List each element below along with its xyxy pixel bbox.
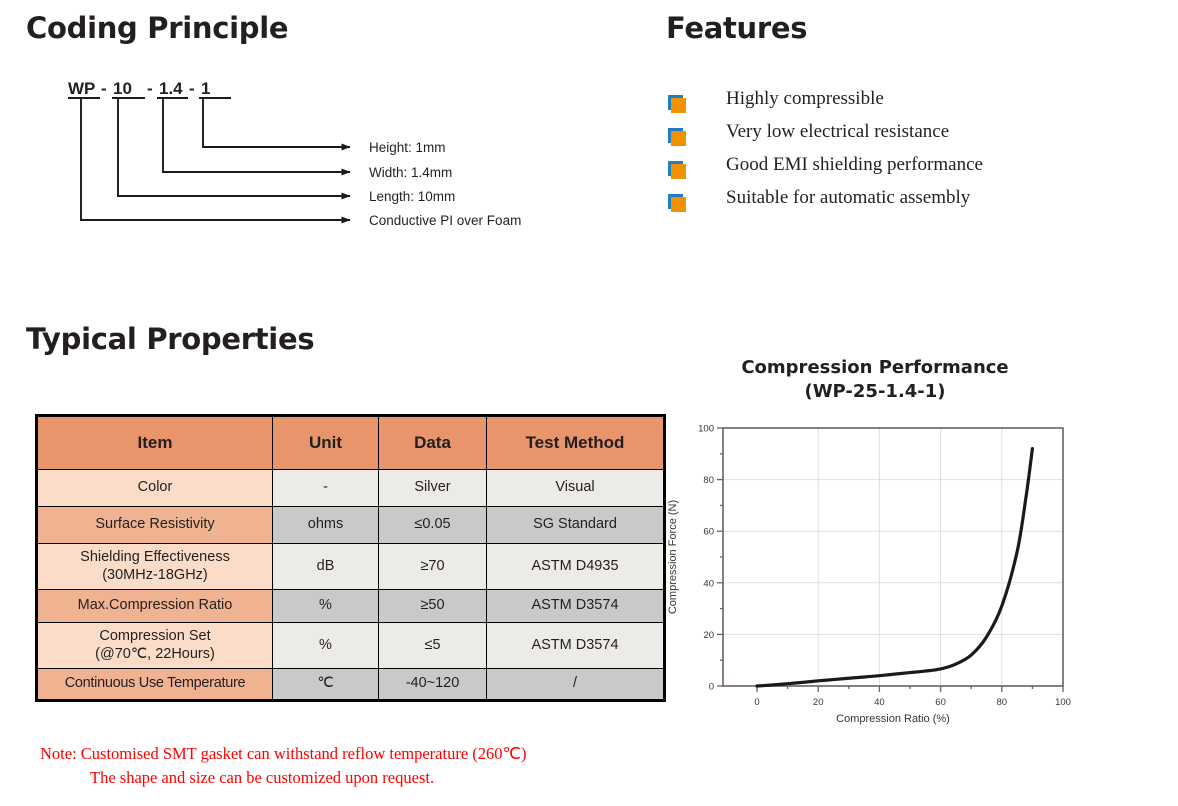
table-row: Max.Compression Ratio % ≥50 ASTM D3574	[38, 590, 664, 623]
cell-data: ≤5	[379, 623, 487, 669]
cell-item: Continuous Use Temperature	[38, 669, 273, 700]
table-note: Note: Customised SMT gasket can withstan…	[40, 742, 660, 790]
list-item: Suitable for automatic assembly	[668, 187, 1108, 220]
cell-unit: -	[273, 470, 379, 507]
square-bullet-icon	[668, 128, 690, 148]
chart-title: Compression Performance (WP-25-1.4-1)	[660, 356, 1090, 405]
page-title-features: Features	[666, 14, 807, 43]
x-tick-label: 60	[935, 697, 946, 708]
chart-title-main: Compression Performance	[741, 357, 1008, 378]
callout-label-material: Conductive PI over Foam	[369, 213, 521, 228]
y-tick-label: 40	[703, 578, 714, 589]
x-tick-label: 80	[997, 697, 1008, 708]
feature-label: Very low electrical resistance	[726, 121, 949, 143]
list-item: Very low electrical resistance	[668, 121, 1108, 154]
note-line-2: The shape and size can be customized upo…	[40, 766, 660, 790]
column-header-unit: Unit	[273, 417, 379, 470]
cell-unit: %	[273, 623, 379, 669]
cell-item: Max.Compression Ratio	[38, 590, 273, 623]
cell-test-method: ASTM D4935	[487, 544, 664, 590]
cell-test-method: /	[487, 669, 664, 700]
column-header-data: Data	[379, 417, 487, 470]
leader-lines	[0, 0, 660, 260]
cell-data: -40~120	[379, 669, 487, 700]
y-tick-label: 20	[703, 630, 714, 641]
features-list: Highly compressible Very low electrical …	[668, 88, 1108, 220]
coding-principle-diagram: WP - 10 - 1.4 - 1 Height: 1mm Width: 1.4…	[0, 0, 660, 260]
square-bullet-icon	[668, 194, 690, 214]
cell-data: ≥50	[379, 590, 487, 623]
x-tick-label: 0	[754, 697, 759, 708]
list-item: Highly compressible	[668, 88, 1108, 121]
chart-title-sub: (WP-25-1.4-1)	[804, 381, 945, 402]
cell-unit: %	[273, 590, 379, 623]
cell-item: Color	[38, 470, 273, 507]
list-item: Good EMI shielding performance	[668, 154, 1108, 187]
cell-data: Silver	[379, 470, 487, 507]
x-tick-label: 100	[1055, 697, 1071, 708]
table-row: Compression Set(@70℃, 22Hours) % ≤5 ASTM…	[38, 623, 664, 669]
compression-performance-chart: Compression Performance (WP-25-1.4-1) 02…	[660, 352, 1090, 732]
column-header-test-method: Test Method	[487, 417, 664, 470]
plot-background	[723, 428, 1063, 686]
y-tick-label: 100	[698, 424, 714, 435]
cell-item: Compression Set(@70℃, 22Hours)	[38, 623, 273, 669]
cell-test-method: SG Standard	[487, 507, 664, 544]
callout-label-height: Height: 1mm	[369, 140, 446, 155]
table-row: Shielding Effectiveness(30MHz-18GHz) dB …	[38, 544, 664, 590]
y-tick-label: 80	[703, 475, 714, 486]
note-line-1: Note: Customised SMT gasket can withstan…	[40, 744, 527, 763]
x-axis-title: Compression Ratio (%)	[836, 713, 950, 725]
cell-item: Shielding Effectiveness(30MHz-18GHz)	[38, 544, 273, 590]
chart-plot: 020406080100 020406080100 Compression Ra…	[660, 410, 1080, 730]
callout-label-length: Length: 10mm	[369, 189, 455, 204]
y-tick-label: 60	[703, 527, 714, 538]
y-axis-title: Compression Force (N)	[667, 500, 679, 614]
y-tick-label: 0	[709, 682, 714, 693]
y-axis-tick-labels: 020406080100	[698, 424, 714, 693]
feature-label: Suitable for automatic assembly	[726, 187, 970, 209]
x-tick-label: 20	[813, 697, 824, 708]
feature-label: Good EMI shielding performance	[726, 154, 983, 176]
square-bullet-icon	[668, 161, 690, 181]
feature-label: Highly compressible	[726, 88, 884, 110]
column-header-item: Item	[38, 417, 273, 470]
cell-test-method: Visual	[487, 470, 664, 507]
table-header-row: Item Unit Data Test Method	[38, 417, 664, 470]
callout-label-width: Width: 1.4mm	[369, 165, 452, 180]
square-bullet-icon	[668, 95, 690, 115]
table-row: Color - Silver Visual	[38, 470, 664, 507]
table-row: Continuous Use Temperature ℃ -40~120 /	[38, 669, 664, 700]
cell-item: Surface Resistivity	[38, 507, 273, 544]
table-row: Surface Resistivity ohms ≤0.05 SG Standa…	[38, 507, 664, 544]
cell-unit: ohms	[273, 507, 379, 544]
cell-test-method: ASTM D3574	[487, 590, 664, 623]
x-tick-label: 40	[874, 697, 885, 708]
cell-test-method: ASTM D3574	[487, 623, 664, 669]
cell-data: ≥70	[379, 544, 487, 590]
typical-properties-table: Item Unit Data Test Method Color - Silve…	[37, 416, 664, 700]
cell-unit: ℃	[273, 669, 379, 700]
cell-unit: dB	[273, 544, 379, 590]
cell-data: ≤0.05	[379, 507, 487, 544]
x-axis-tick-labels: 020406080100	[754, 697, 1071, 708]
page-title-typical-properties: Typical Properties	[26, 325, 314, 354]
